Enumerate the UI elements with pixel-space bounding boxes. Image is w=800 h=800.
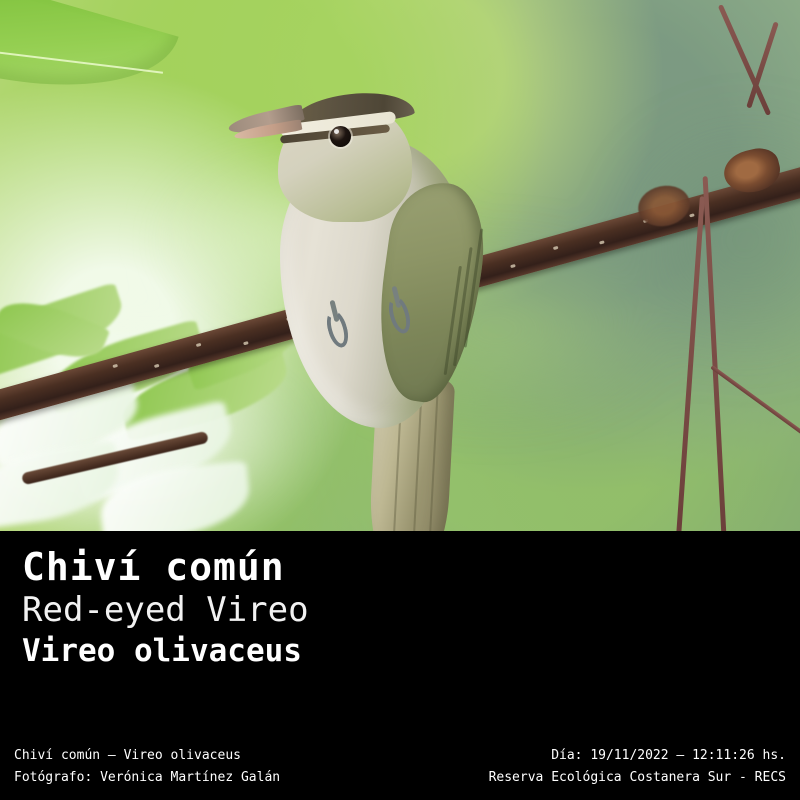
bird-eye <box>330 126 351 147</box>
scientific-name: Vireo olivaceus <box>22 631 309 671</box>
footer-right: Día: 19/11/2022 – 12:11:26 hs. Reserva E… <box>489 745 786 789</box>
common-name: Chiví común <box>22 545 309 589</box>
footer-location-line: Reserva Ecológica Costanera Sur - RECS <box>489 767 786 789</box>
bird-photo-card: Chiví común Red-eyed Vireo Vireo olivace… <box>0 0 800 800</box>
bird-photograph <box>0 0 800 531</box>
english-name: Red-eyed Vireo <box>22 589 309 631</box>
footer-photographer-line: Fotógrafo: Verónica Martínez Galán <box>14 767 280 789</box>
vireo-bird <box>232 78 532 528</box>
footer-species-line: Chiví común – Vireo olivaceus <box>14 745 280 767</box>
footer-left: Chiví común – Vireo olivaceus Fotógrafo:… <box>14 745 280 789</box>
footer-datetime-line: Día: 19/11/2022 – 12:11:26 hs. <box>489 745 786 767</box>
footer: Chiví común – Vireo olivaceus Fotógrafo:… <box>0 745 800 800</box>
species-titles: Chiví común Red-eyed Vireo Vireo olivace… <box>22 545 309 671</box>
